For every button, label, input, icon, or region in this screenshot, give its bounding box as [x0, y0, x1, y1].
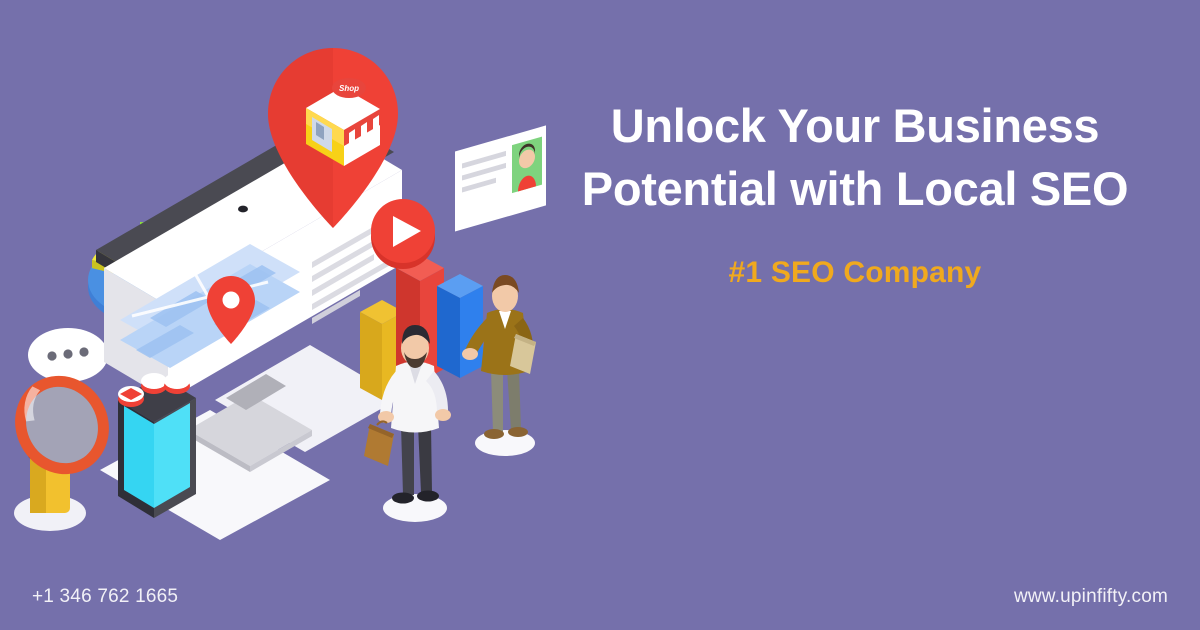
- website-url[interactable]: www.upinfifty.com: [1014, 586, 1168, 608]
- headline-block: Unlock Your Business Potential with Loca…: [530, 95, 1180, 290]
- phone-number[interactable]: +1 346 762 1665: [32, 586, 178, 608]
- play-button-icon: [371, 199, 435, 269]
- magnifier-icon: [0, 359, 126, 531]
- briefcase-icon: [364, 421, 394, 466]
- seo-banner: Shop: [0, 0, 1200, 630]
- local-seo-illustration: Shop: [0, 0, 560, 580]
- subheadline: #1 SEO Company: [530, 256, 1180, 290]
- page-title: Unlock Your Business Potential with Loca…: [530, 95, 1180, 220]
- headline-line-2: Potential with Local SEO: [530, 158, 1180, 221]
- svg-text:Shop: Shop: [339, 84, 359, 93]
- headline-line-1: Unlock Your Business: [530, 95, 1180, 158]
- phone-storefront: [118, 373, 196, 518]
